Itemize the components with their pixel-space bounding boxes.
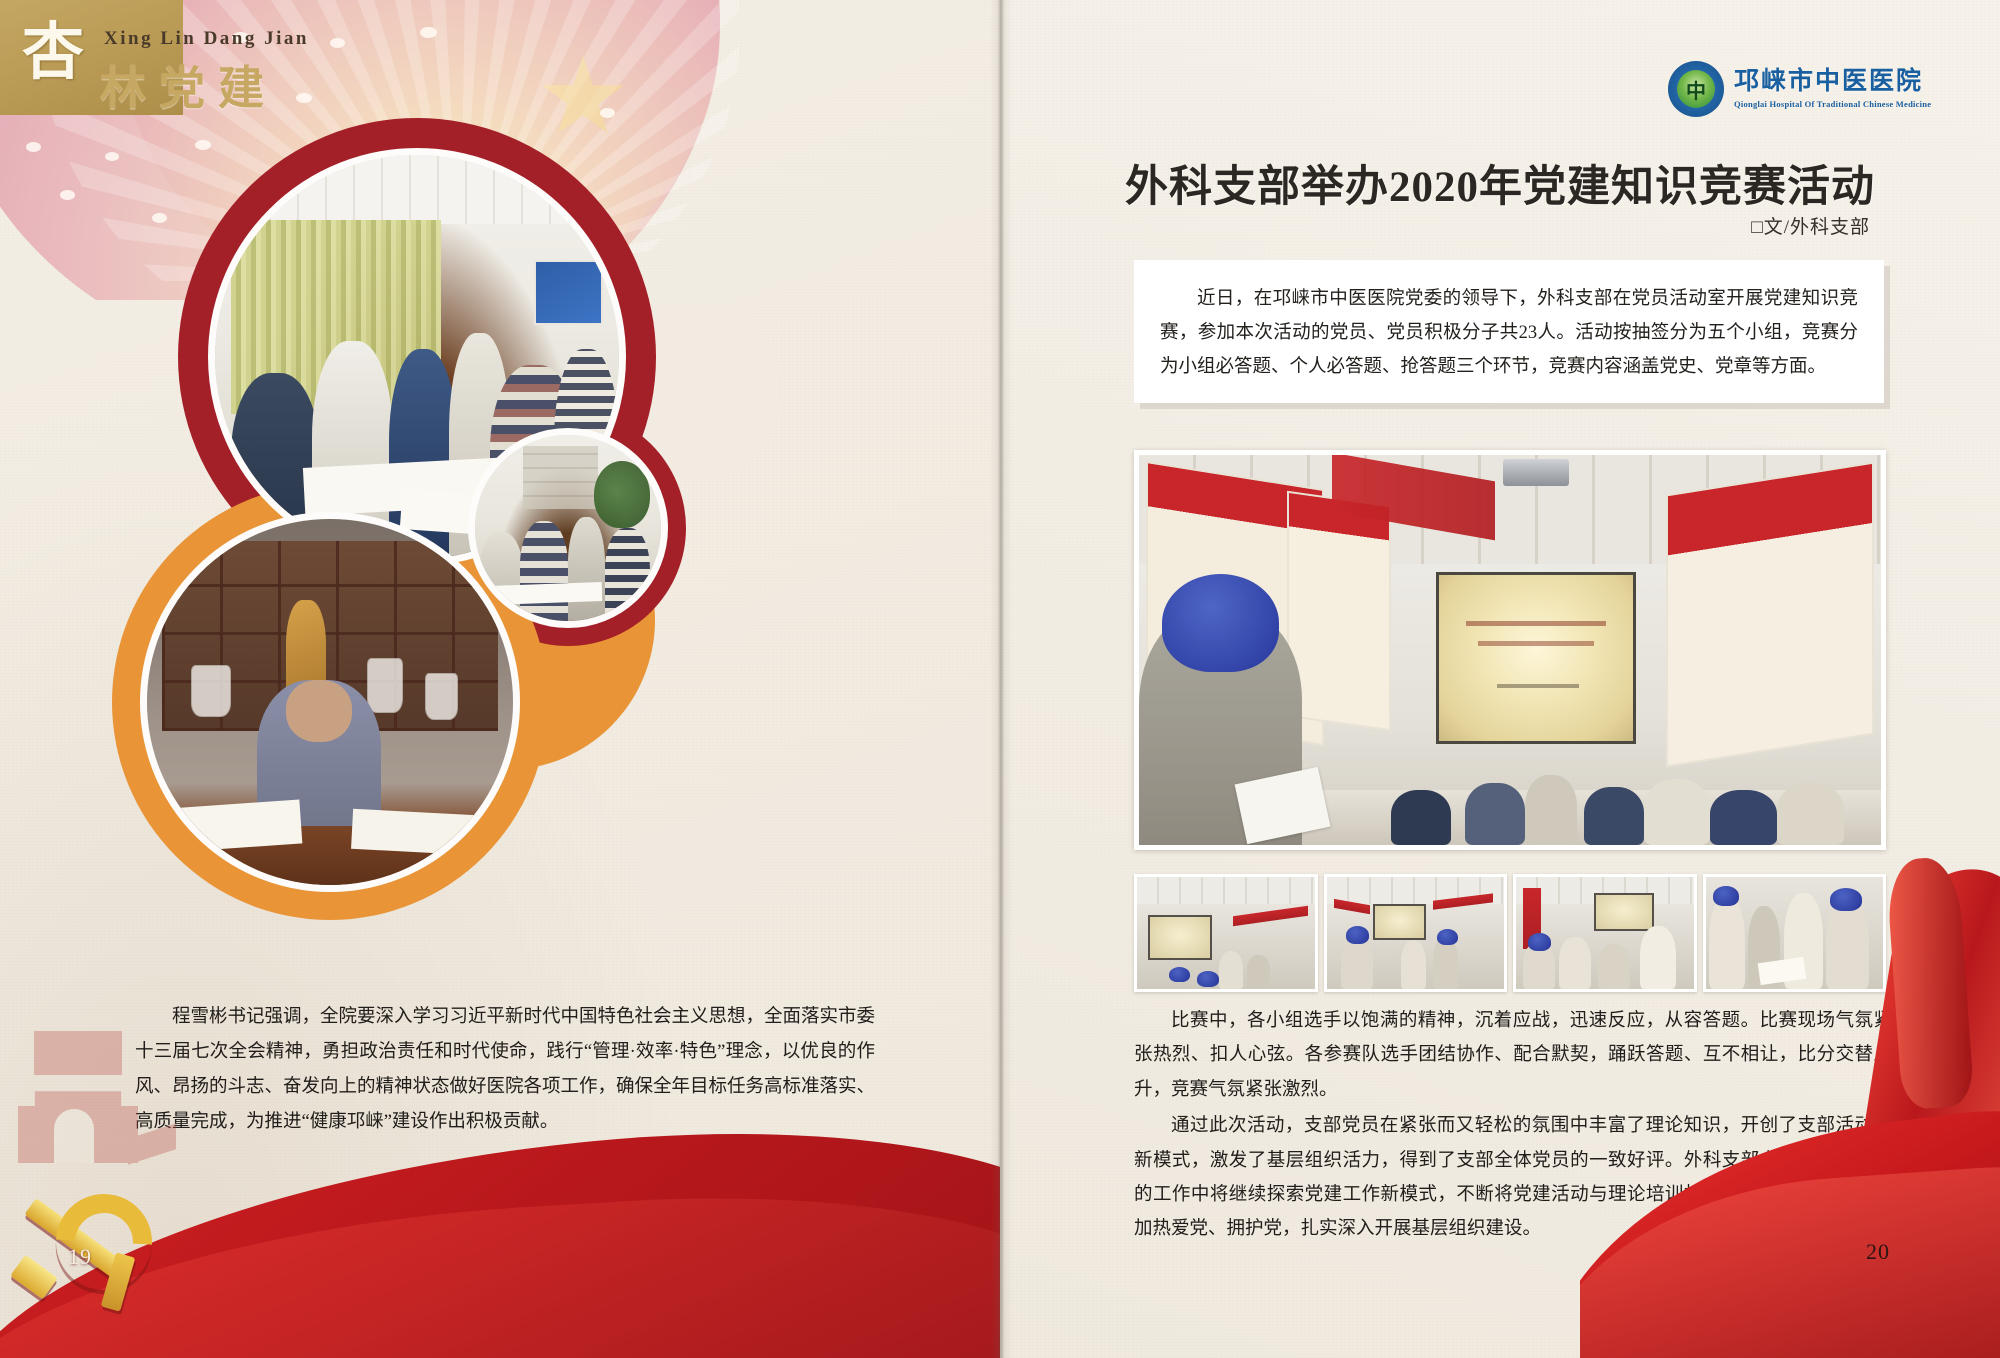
decor-dot — [105, 152, 119, 161]
hospital-name-cn: 邛崃市中医医院 — [1734, 69, 1931, 95]
body-paragraph-2: 通过此次活动，支部党员在紧张而又轻松的氛围中丰富了理论知识，开创了支部活动的新模… — [1134, 1109, 1892, 1247]
hospital-logo-mark-icon: 中 — [1668, 61, 1724, 117]
article-byline: □文/外科支部 — [1751, 212, 1870, 239]
decor-dot — [195, 140, 211, 150]
hospital-logo-glyph: 中 — [1677, 70, 1715, 108]
left-page: 杏 Xing Lin Dang Jian 林党建 — [0, 0, 1000, 1358]
page-number-left: 19 — [68, 1244, 92, 1270]
right-page: 中 邛崃市中医医院 Qionglai Hospital Of Tradition… — [1000, 0, 2000, 1358]
section-pinyin: Xing Lin Dang Jian — [104, 28, 309, 50]
decor-dot — [60, 190, 75, 200]
right-body-text: 比赛中，各小组选手以饱满的精神，沉着应战，迅速反应，从容答题。比赛现场气氛紧张热… — [1134, 1004, 1892, 1249]
thumbnail-strip — [1134, 874, 1886, 992]
photo-secretary-office — [140, 512, 520, 892]
thumbnail-1 — [1134, 874, 1318, 992]
hospital-name-en: Qionglai Hospital Of Traditional Chinese… — [1734, 99, 1931, 109]
decor-dot — [600, 108, 615, 118]
thumbnail-4 — [1703, 874, 1887, 992]
main-photo-competition-scene — [1134, 450, 1886, 850]
decor-dot — [296, 93, 312, 103]
section-title-cn: 林党建 — [100, 52, 277, 118]
decor-dot — [330, 38, 345, 48]
page-number-right: 20 — [1866, 1239, 1890, 1265]
lead-paragraph-box: 近日，在邛崃市中医医院党委的领导下，外科支部在党员活动室开展党建知识竞赛，参加本… — [1134, 260, 1884, 403]
party-emblem-icon — [12, 1180, 177, 1330]
hospital-logo: 中 邛崃市中医医院 Qionglai Hospital Of Tradition… — [1668, 58, 1918, 120]
left-body-paragraph: 程雪彬书记强调，全院要深入学习习近平新时代中国特色社会主义思想，全面落实市委十三… — [135, 1000, 875, 1141]
thumbnail-2 — [1324, 874, 1508, 992]
great-wall-watermark-icon — [8, 1013, 178, 1163]
decor-dot — [420, 27, 437, 38]
magazine-spread: 杏 Xing Lin Dang Jian 林党建 — [0, 0, 2000, 1358]
left-body-text: 程雪彬书记强调，全院要深入学习习近平新时代中国特色社会主义思想，全面落实市委十三… — [135, 1000, 875, 1141]
section-badge-char: 杏 — [22, 22, 84, 84]
thumbnail-3 — [1513, 874, 1697, 992]
decor-dot — [26, 142, 41, 152]
lead-paragraph: 近日，在邛崃市中医医院党委的领导下，外科支部在党员活动室开展党建知识竞赛，参加本… — [1160, 282, 1858, 385]
body-paragraph-1: 比赛中，各小组选手以饱满的精神，沉着应战，迅速反应，从容答题。比赛现场气氛紧张热… — [1134, 1004, 1892, 1107]
decor-dot — [152, 213, 167, 223]
article-title: 外科支部举办2020年党建知识竞赛活动 — [1060, 152, 1940, 214]
